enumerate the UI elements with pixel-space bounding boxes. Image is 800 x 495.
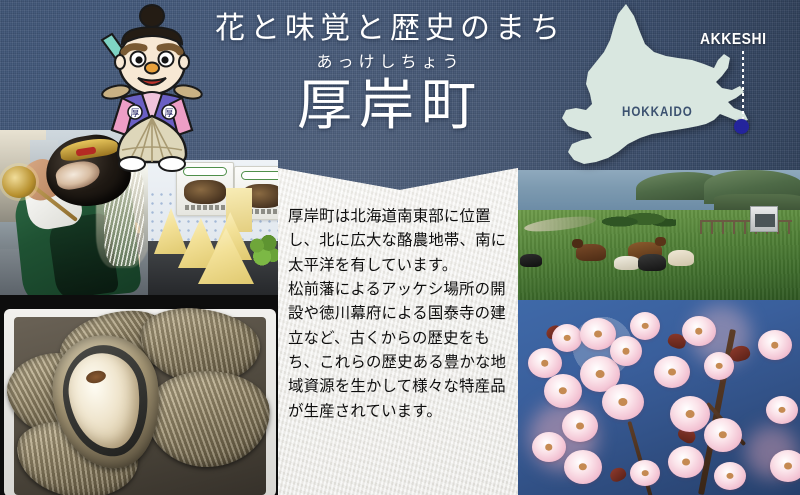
akkeshi-location-marker	[734, 119, 749, 134]
sakura-flower	[562, 410, 598, 442]
pasture-horse	[614, 256, 640, 270]
sakura-flower	[704, 352, 734, 380]
sakura-flower	[552, 324, 582, 352]
pasture-fence	[700, 220, 792, 234]
sakura-flower	[630, 312, 660, 340]
sakura-flower	[682, 316, 716, 346]
svg-text:厚: 厚	[164, 108, 173, 118]
tagline-text: 花と味覚と歴史のまち	[200, 14, 580, 44]
sakura-flower	[532, 432, 566, 462]
pasture-shed	[750, 206, 778, 232]
akkeshi-map-label: AKKESHI	[700, 31, 767, 49]
description-paragraph: 松前藩によるアッケシ場所の開設や徳川幕府による国泰寺の建立など、古くからの歴史を…	[288, 278, 516, 424]
pasture-horse	[638, 254, 666, 271]
akkeshi-leader-line	[742, 51, 744, 123]
photo-horses-pasture	[518, 170, 800, 300]
description-text: 厚岸町は北海道南東部に位置し、北に広大な酪農地帯、南に太平洋を有しています。 松…	[288, 205, 516, 424]
pasture-horse	[520, 254, 542, 267]
cheese-package-text	[185, 205, 225, 210]
sakura-flower	[564, 450, 602, 484]
mascot-samurai-scallop-illustration: 厚 厚	[96, 4, 208, 172]
cheese-parsley-garnish	[248, 234, 278, 268]
sakura-flower	[668, 446, 704, 478]
photo-oysters	[0, 295, 278, 495]
mascot-head	[115, 27, 189, 94]
festival-bell	[2, 166, 36, 198]
town-name: 厚岸町	[200, 75, 580, 137]
sakura-flower	[544, 374, 582, 408]
photo-cherry-blossoms	[518, 300, 800, 495]
svg-text:厚: 厚	[130, 108, 139, 118]
cheese-package-image	[184, 180, 226, 204]
town-name-reading: あっけしちょう	[200, 55, 580, 71]
sakura-flower	[630, 460, 660, 486]
sakura-flower	[602, 384, 644, 420]
sakura-flower	[766, 396, 798, 424]
sakura-flower	[714, 462, 746, 490]
pasture-horse	[668, 250, 694, 266]
sakura-flower	[758, 330, 792, 360]
cheese-package-label	[241, 171, 278, 180]
sakura-flower	[654, 356, 690, 388]
hokkaido-map-label: HOKKAIDO	[622, 104, 693, 119]
akkeshi-promotional-banner: AKKESHI HOKKAIDO 花と味覚と歴史のまち あっけしちょう 厚岸町	[0, 0, 800, 495]
sakura-flower	[704, 418, 742, 452]
description-paragraph: 厚岸町は北海道南東部に位置し、北に広大な酪農地帯、南に太平洋を有しています。	[288, 205, 516, 278]
sakura-flower	[610, 336, 642, 366]
sakura-flower	[670, 396, 710, 432]
pasture-trees	[602, 206, 676, 232]
photo-cheese-wedges	[148, 160, 278, 295]
sakura-flower	[770, 450, 800, 482]
headline-block: 花と味覚と歴史のまち あっけしちょう 厚岸町	[200, 14, 580, 137]
pasture-horse	[576, 244, 606, 261]
sakura-flower	[528, 348, 562, 378]
mascot-character: 厚 厚	[96, 4, 208, 172]
